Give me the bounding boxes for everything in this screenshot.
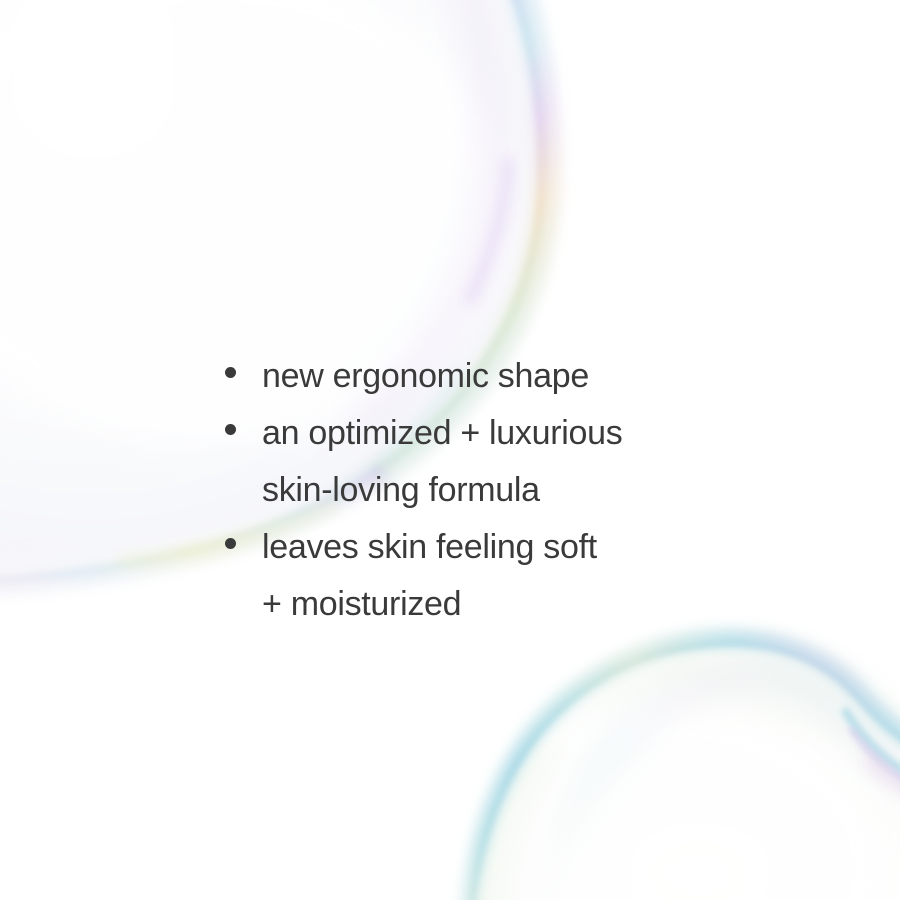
list-item-label: leaves skin feeling soft	[262, 519, 782, 576]
bottom-right-bubble	[430, 638, 900, 900]
list-item-label-continued: skin-loving formula	[262, 462, 782, 519]
feature-list: new ergonomic shape an optimized + luxur…	[222, 348, 782, 633]
list-item: leaves skin feeling soft + moisturized	[222, 519, 782, 633]
poster-canvas: let’s raise the bar new ergonomic shape …	[0, 0, 900, 900]
list-item: new ergonomic shape	[222, 348, 782, 405]
bullet-dot-icon	[225, 367, 236, 378]
list-item: an optimized + luxurious skin-loving for…	[222, 405, 782, 519]
list-item-label-continued: + moisturized	[262, 576, 782, 633]
bullet-dot-icon	[225, 424, 236, 435]
bullet-dot-icon	[225, 538, 236, 549]
list-item-label: an optimized + luxurious	[262, 405, 782, 462]
list-item-label: new ergonomic shape	[262, 348, 782, 405]
page-title: let’s raise the bar	[70, 196, 629, 272]
